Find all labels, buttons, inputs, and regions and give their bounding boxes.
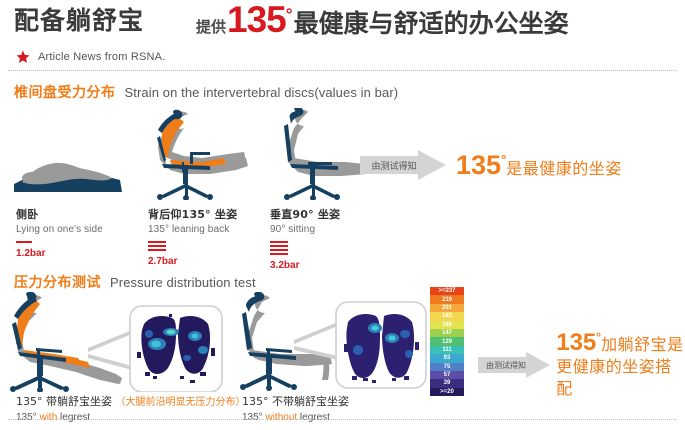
caption-upright-90: 垂直90° 坐姿 90° sitting 3.2bar: [270, 206, 340, 271]
chair-with-legrest-heatmap-icon: [4, 292, 229, 392]
legend-row: 39: [430, 379, 464, 387]
header-divider: [8, 70, 676, 71]
legend-row: 201: [430, 304, 464, 312]
arrow-label: 由测试得知: [482, 352, 530, 378]
arrow-right-icon: 由测试得知: [360, 150, 446, 180]
header-title-right: 提供 135 ° 最健康与舒适的办公坐姿: [196, 0, 569, 46]
section2-conclusion-text: 135 ° 加躺舒宝是 更健康的坐姿搭配: [556, 330, 685, 400]
page-title-cn: 配备躺舒宝: [14, 4, 144, 38]
caption-leaning-back-135: 背后仰135° 坐姿 135° leaning back 2.7bar: [148, 206, 237, 267]
section1-title-en: Strain on the intervertebral discs(value…: [125, 85, 399, 100]
source-line: Article News from RSNA.: [16, 50, 165, 64]
header-angle-number: 135: [227, 0, 286, 40]
section2-header: 压力分布测试 Pressure distribution test: [14, 272, 256, 292]
section1-conclusion: 由测试得知 135 ° 是最健康的坐姿: [360, 150, 622, 180]
conclusion-label-line2: 更健康的坐姿搭配: [556, 356, 685, 400]
conclusion-label-line1: 加躺舒宝是: [601, 331, 684, 355]
pressure-color-scale: >=237 219 201 183 165 147 129 111 93 75 …: [429, 286, 465, 397]
section1-title-cn: 椎间盘受力分布: [14, 82, 116, 102]
legend-row: 129: [430, 337, 464, 345]
section2-title-cn: 压力分布测试: [14, 272, 101, 292]
conclusion-number: 135: [456, 150, 501, 180]
legend-row: 93: [430, 354, 464, 362]
strain-bars: [16, 241, 103, 243]
conclusion-number: 135: [556, 330, 596, 356]
caption-cn: 135° 不带躺舒宝坐姿: [242, 393, 349, 409]
caption-cn: 背后仰135° 坐姿: [148, 206, 237, 222]
poster-page: 配备躺舒宝 提供 135 ° 最健康与舒适的办公坐姿 Article News …: [0, 0, 685, 430]
header-lead-cn: 提供: [196, 8, 226, 46]
caption-cn: 侧卧: [16, 206, 103, 222]
section1-header: 椎间盘受力分布 Strain on the intervertebral dis…: [14, 82, 398, 102]
header-title-cn2: 最健康与舒适的办公坐姿: [294, 5, 569, 43]
caption-note: （大腿前沿明显无压力分布）: [116, 397, 246, 408]
star-icon: [16, 50, 30, 64]
section2-conclusion: 由测试得知 135 ° 加躺舒宝是 更健康的坐姿搭配: [478, 330, 685, 400]
caption-lying-on-side: 侧卧 Lying on one's side 1.2bar: [16, 206, 103, 259]
arrow-label: 由测试得知: [366, 150, 422, 180]
legend-row: 57: [430, 371, 464, 379]
strain-value: 3.2bar: [270, 260, 340, 271]
caption-en: 135° with legrest: [16, 412, 246, 423]
caption-cn: 垂直90° 坐姿: [270, 206, 340, 222]
strain-value: 1.2bar: [16, 248, 103, 259]
degree-symbol-icon: °: [501, 152, 506, 167]
legend-row: 165: [430, 321, 464, 329]
legend-row: 111: [430, 346, 464, 354]
strain-value: 2.7bar: [148, 256, 237, 267]
caption-en: 135° without legrest: [242, 412, 349, 423]
section1-conclusion-text: 135 ° 是最健康的坐姿: [456, 150, 622, 180]
caption-en: Lying on one's side: [16, 224, 103, 235]
chair-leaning-back-135-icon: [140, 108, 255, 200]
legend-row: 183: [430, 312, 464, 320]
degree-symbol-icon: °: [286, 5, 293, 25]
legend-row: 147: [430, 329, 464, 337]
chair-without-legrest-heatmap-icon: [232, 292, 432, 392]
legend-row: >=20: [430, 388, 464, 396]
page-header: 配备躺舒宝 提供 135 ° 最健康与舒适的办公坐姿 Article News …: [0, 0, 685, 72]
source-text: Article News from RSNA.: [38, 51, 165, 63]
legend-row: 75: [430, 363, 464, 371]
caption-en: 90° sitting: [270, 224, 340, 235]
section2-title-en: Pressure distribution test: [110, 275, 256, 290]
strain-bars: [270, 241, 340, 255]
caption-en: 135° leaning back: [148, 224, 237, 235]
degree-symbol-icon: °: [596, 330, 601, 344]
footer-divider: [8, 419, 676, 420]
arrow-right-icon: 由测试得知: [478, 352, 548, 378]
caption-cn: 135° 带躺舒宝坐姿 （大腿前沿明显无压力分布）: [16, 393, 246, 409]
header-title-left: 配备躺舒宝: [14, 4, 144, 38]
conclusion-label: 是最健康的坐姿: [506, 155, 622, 179]
person-lying-on-side-icon: [8, 150, 128, 200]
legend-row: 219: [430, 295, 464, 303]
legend-row: >=237: [430, 287, 464, 295]
strain-bars: [148, 241, 237, 251]
